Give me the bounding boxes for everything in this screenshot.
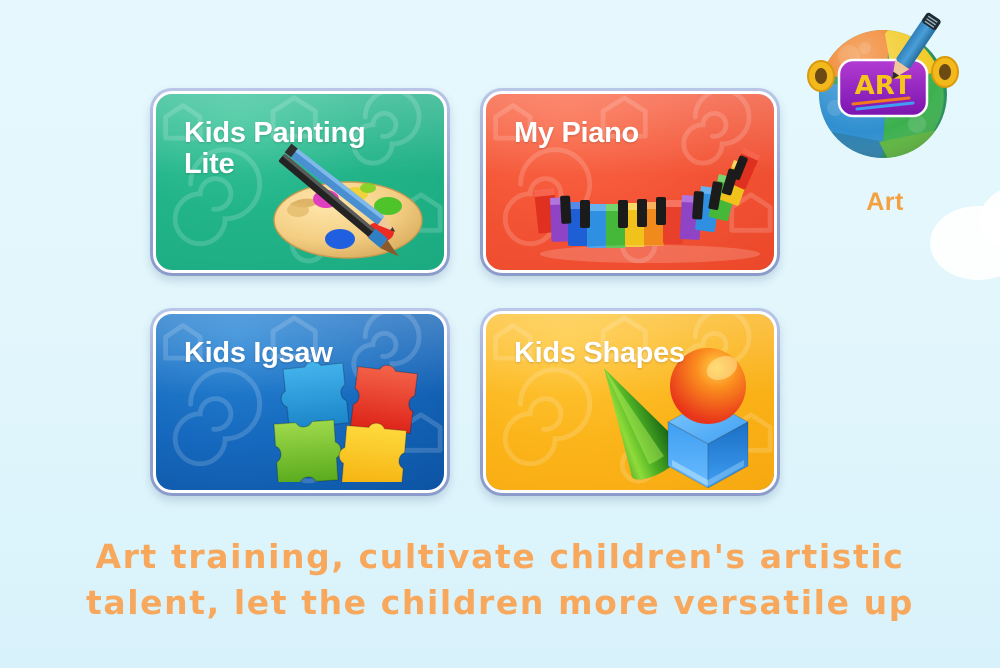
caption-line-1: Art training, cultivate children's artis…: [0, 534, 1000, 580]
app-tile-kids-igsaw[interactable]: Kids Igsaw: [150, 308, 450, 496]
app-promo-banner: Kids Painting Lite: [0, 0, 1000, 668]
app-tile-kids-shapes[interactable]: Kids Shapes: [480, 308, 780, 496]
art-ball-with-pencil-icon: ART: [805, 12, 965, 172]
tile-title: Kids Igsaw: [184, 338, 409, 369]
promo-caption: Art training, cultivate children's artis…: [0, 534, 1000, 625]
app-tile-grid: Kids Painting Lite: [150, 88, 780, 496]
tile-title: Kids Shapes: [514, 338, 739, 369]
tile-face: Kids Shapes: [486, 314, 774, 490]
tile-face: Kids Igsaw: [156, 314, 444, 490]
caption-line-2: talent, let the children more versatile …: [0, 580, 1000, 626]
app-tile-kids-painting-lite[interactable]: Kids Painting Lite: [150, 88, 450, 276]
tile-inner-frame: Kids Igsaw: [153, 311, 447, 493]
app-tile-my-piano[interactable]: My Piano: [480, 88, 780, 276]
tile-title: Kids Painting Lite: [184, 118, 409, 180]
tile-inner-frame: Kids Shapes: [483, 311, 777, 493]
tile-inner-frame: My Piano: [483, 91, 777, 273]
tile-inner-frame: Kids Painting Lite: [153, 91, 447, 273]
tile-face: Kids Painting Lite: [156, 94, 444, 270]
tile-title: My Piano: [514, 118, 739, 149]
rainbow-piano-keys-icon: [530, 146, 772, 264]
category-label: Art: [795, 188, 975, 217]
category-badge[interactable]: ART Art: [795, 12, 975, 217]
tile-face: My Piano: [486, 94, 774, 270]
art-ball-text: ART: [855, 71, 912, 101]
